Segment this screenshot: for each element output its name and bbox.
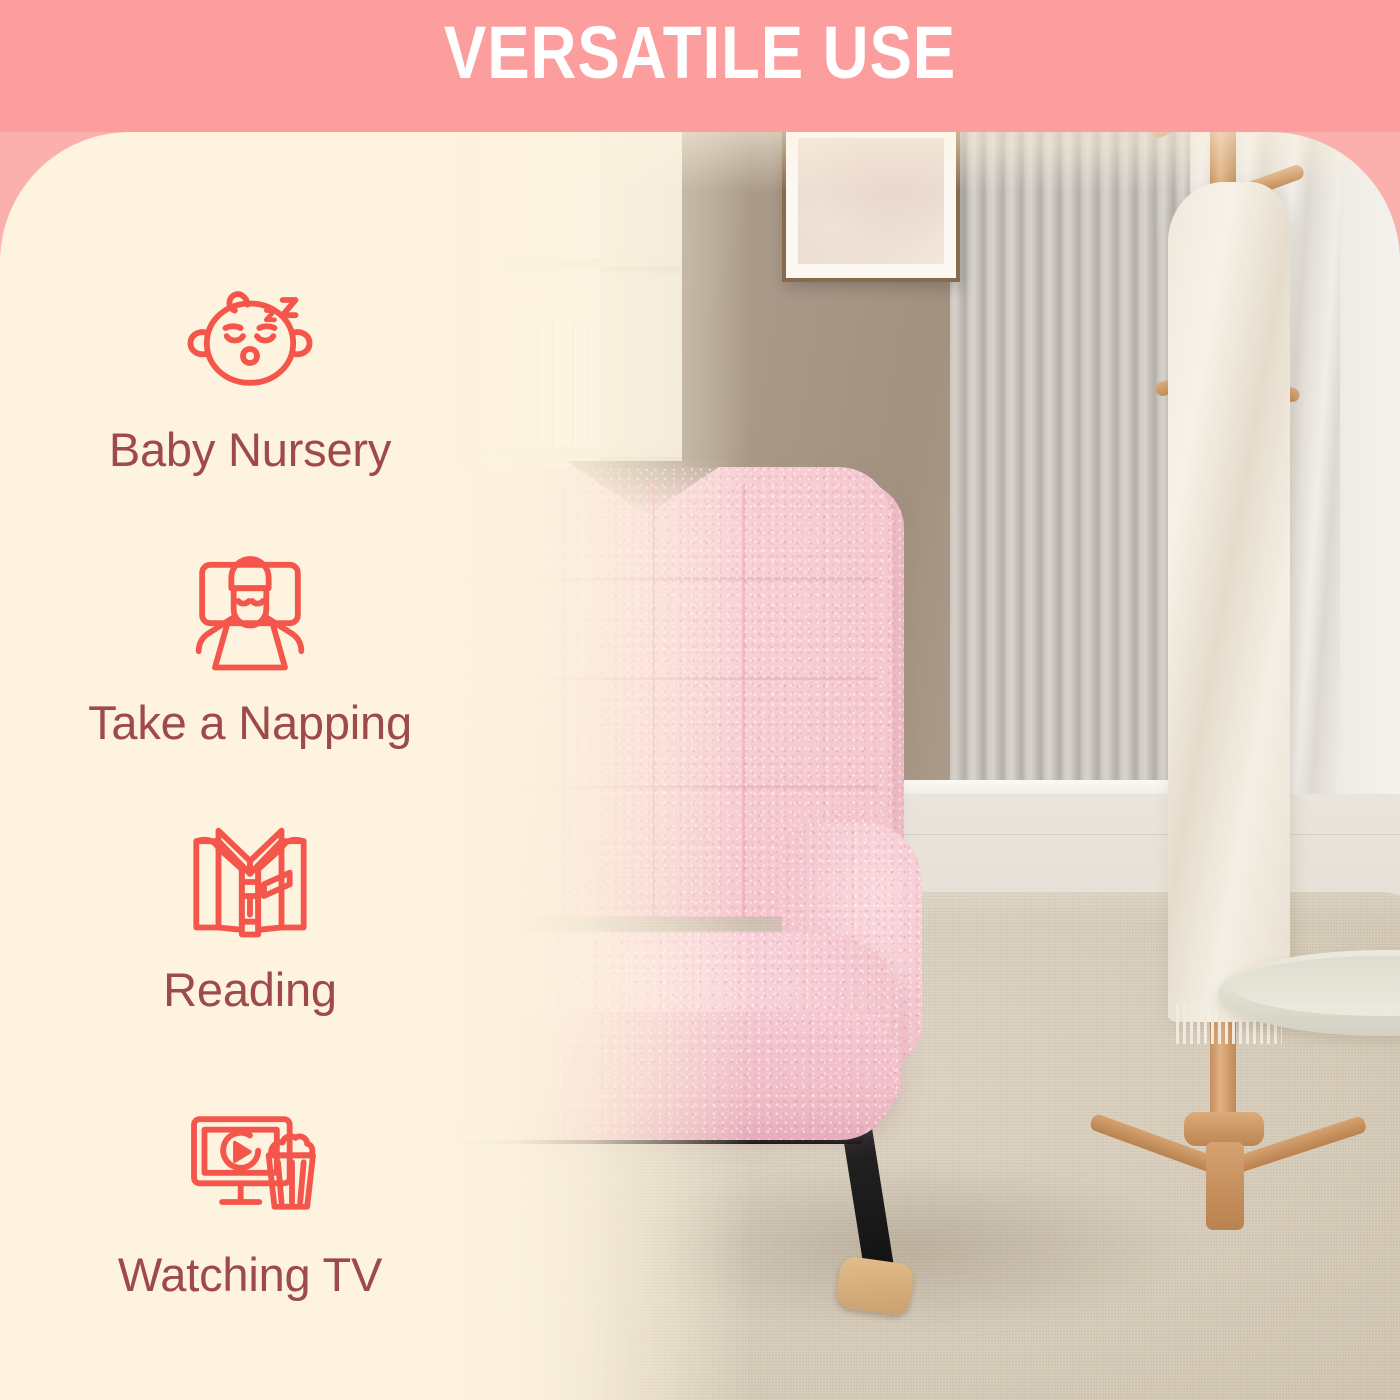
tv-with-popcorn-icon [180,1097,320,1237]
feature-label: Reading [0,966,500,1013]
feature-label: Take a Napping [0,699,500,746]
content-card: Baby Nursery Take a Napping [0,132,1400,1400]
feature-label: Watching TV [0,1251,500,1298]
person-napping-on-pillow-icon [180,545,320,685]
infographic-canvas: VERSATILE USE [0,0,1400,1400]
feature-item-take-a-napping: Take a Napping [0,545,500,746]
sleeping-baby-face-icon [180,272,320,412]
header-band: VERSATILE USE [0,0,1400,132]
feature-item-baby-nursery: Baby Nursery [0,272,500,473]
rocker-tip [835,1255,916,1317]
feature-list: Baby Nursery Take a Napping [0,132,500,1400]
open-book-icon [180,812,320,952]
feature-label: Baby Nursery [0,426,500,473]
feature-item-watching-tv: Watching TV [0,1097,500,1298]
page-title: VERSATILE USE [98,14,1302,92]
feature-item-reading: Reading [0,812,500,1013]
